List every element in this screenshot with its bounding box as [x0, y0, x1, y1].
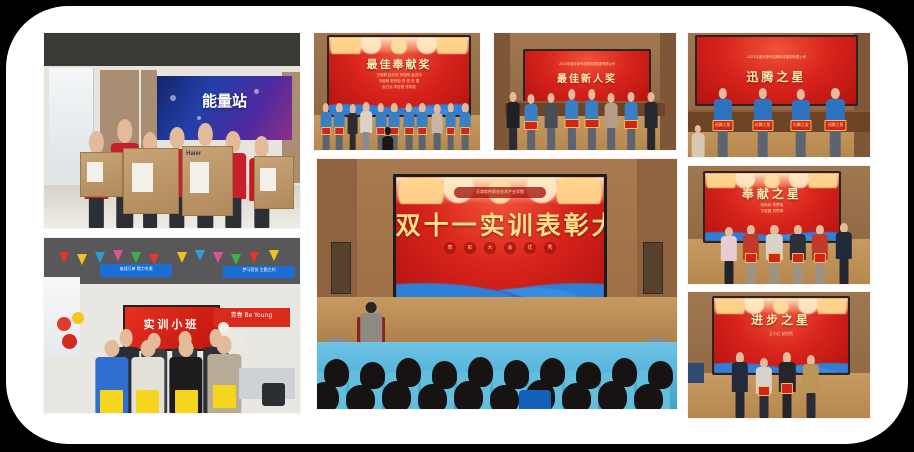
person	[432, 104, 443, 150]
person: 迅腾之星	[713, 88, 731, 157]
screen-badge: 秀	[544, 242, 556, 254]
legs	[527, 129, 535, 150]
bunting-flag	[113, 250, 123, 261]
banner-sparkle-3	[197, 116, 201, 120]
photo-xunteng-star[interactable]: 2023年度天津市迅腾科技集团有限公司 迅腾之星 迅腾之星	[687, 32, 871, 158]
screen-title: 进步之星	[714, 311, 849, 328]
head	[140, 340, 155, 358]
head	[608, 93, 615, 103]
yellow-certificate	[136, 390, 159, 413]
head	[385, 127, 391, 136]
screen-title: 迅腾之星	[697, 68, 855, 85]
person-seated	[692, 125, 705, 157]
office-chair	[262, 383, 285, 406]
slogan-band-right-text: 梦马竞技 主题之约	[223, 267, 295, 273]
torso	[507, 102, 520, 128]
torso	[545, 103, 558, 128]
award-placard: 迅腾之星	[790, 120, 811, 131]
head	[628, 92, 635, 103]
legs	[588, 127, 596, 150]
certificate	[781, 383, 793, 394]
person	[779, 352, 795, 418]
photo-award-boxes-scene: 能量站	[44, 33, 300, 228]
legs	[757, 128, 768, 157]
legs	[783, 392, 792, 418]
award-placard	[584, 119, 599, 128]
legs	[746, 260, 755, 284]
head	[797, 89, 805, 100]
balloon	[57, 317, 71, 331]
legs	[509, 128, 517, 150]
certificate	[446, 127, 456, 135]
collage-card: 能量站	[6, 6, 908, 444]
bunting-flag	[195, 250, 205, 261]
certificate	[814, 253, 826, 263]
person	[545, 93, 558, 150]
legs	[447, 133, 454, 150]
torso	[432, 113, 443, 134]
screen-title: 最佳新人奖	[525, 70, 649, 85]
slogan-band-right: 梦马竞技 主题之约	[223, 266, 295, 278]
legs	[794, 260, 803, 284]
head	[198, 123, 212, 146]
bunting-flag	[213, 252, 223, 263]
photo-award-boxes[interactable]: 能量站	[43, 32, 301, 229]
audience-blue-jacket	[519, 390, 551, 409]
photo-best-contribution-scene: 最佳奉献奖 王伟鹏 赵志伟 刘佳明 孟志伟 马晓雅 陈欣怡 李 悦 张 雪 赵方…	[314, 33, 480, 150]
legs	[759, 394, 768, 418]
torso	[605, 103, 618, 128]
photo-dedication-star[interactable]: 奉献之星 张雨欣 李梦瑶 王晓晨 刘思琪	[687, 165, 871, 285]
bunting-flag	[131, 252, 141, 263]
legs	[547, 128, 555, 150]
certificate	[321, 127, 331, 135]
screen-org-line: 2023年度天津市迅腾科技集团有限公司	[697, 54, 855, 59]
bunting-flag	[269, 250, 279, 261]
head	[104, 340, 119, 358]
bunting-flag	[249, 252, 259, 263]
bunting-flag	[59, 252, 69, 263]
head	[366, 302, 377, 313]
screen-badge: 优	[524, 242, 536, 254]
person	[360, 102, 372, 150]
person	[404, 103, 415, 150]
person	[625, 92, 638, 151]
wall-vent-right	[643, 242, 663, 294]
person	[766, 225, 782, 284]
legs	[419, 133, 426, 150]
certificate	[418, 127, 428, 135]
side-table	[688, 363, 704, 383]
torso	[382, 136, 394, 151]
balloon	[72, 312, 84, 324]
torso	[835, 232, 851, 260]
legs	[406, 133, 413, 150]
legs	[323, 133, 330, 150]
person: 迅腾之星	[754, 88, 772, 157]
head	[588, 89, 596, 100]
person	[755, 358, 771, 418]
box-brand-text: Haier	[186, 151, 201, 157]
bunting-flag	[77, 254, 87, 265]
bunting-flag	[177, 252, 187, 263]
screen-title: 奉献之星	[705, 185, 840, 202]
legs	[830, 128, 841, 157]
photo-dedication-star-scene: 奉献之星 张雨欣 李梦瑶 王晓晨 刘思琪	[688, 166, 870, 284]
legs	[462, 133, 469, 150]
screen-org-text: 天津软件职业技术产业学院	[454, 187, 546, 198]
head	[548, 93, 555, 103]
screen-badge: 彰	[464, 242, 476, 254]
wall-pillar-right	[660, 33, 676, 150]
box-label	[132, 163, 154, 192]
screen-badge: 大	[484, 242, 496, 254]
legs	[839, 259, 848, 284]
prize-box	[254, 156, 294, 209]
legs	[717, 128, 728, 157]
certificate	[792, 253, 804, 263]
screen-title: 双十一实训表彰大会	[396, 206, 605, 242]
photo-newcomer-award-scene: 2023年度天津市迅腾科技集团有限公司 最佳新人奖	[494, 33, 676, 150]
certificate	[335, 127, 345, 135]
person	[835, 223, 851, 284]
award-placard: 迅腾之星	[712, 120, 733, 131]
head	[179, 340, 194, 358]
screen-title: 最佳奉献奖	[329, 56, 468, 72]
placard-text: 迅腾之星	[791, 122, 810, 128]
award-placard: 迅腾之星	[825, 120, 846, 131]
certificate	[461, 127, 471, 135]
head	[695, 125, 701, 133]
person	[605, 93, 618, 150]
screen-subline-3: 赵方远 李佳慧 张明浩	[329, 85, 468, 90]
screenshot-root: 能量站	[0, 0, 914, 452]
head	[89, 131, 103, 154]
certificate	[768, 253, 780, 263]
screen-blue-mountains	[396, 263, 605, 300]
award-placard	[624, 120, 638, 129]
torso	[803, 364, 819, 392]
photo-newcomer-award[interactable]: 2023年度天津市迅腾科技集团有限公司 最佳新人奖	[493, 32, 677, 151]
person	[321, 103, 332, 150]
legs	[770, 260, 779, 284]
person	[460, 103, 471, 150]
photo-main-auditorium-scene: 天津软件职业技术产业学院 双十一实训表彰大会 表 彰 大 会 优 秀	[317, 159, 677, 409]
person: 迅腾之星	[792, 89, 810, 157]
head	[718, 88, 726, 99]
legs	[336, 133, 343, 150]
person	[507, 92, 520, 151]
torso	[721, 236, 737, 261]
screen-subline-1: 王小红 赵欣然	[714, 331, 849, 337]
photo-collage: 能量站	[6, 6, 908, 444]
bunting-flag	[231, 254, 241, 265]
prize-box-haier: Haier	[182, 146, 233, 216]
head	[758, 88, 766, 99]
person	[334, 103, 345, 150]
photo-best-contribution[interactable]: 最佳奉献奖 王伟鹏 赵志伟 刘佳明 孟志伟 马晓雅 陈欣怡 李 悦 张 雪 赵方…	[313, 32, 481, 151]
screen-subline-2: 马晓雅 陈欣怡 李 悦 张 雪	[329, 79, 468, 84]
certificate	[404, 127, 414, 135]
ceiling	[44, 33, 300, 66]
person: 迅腾之星	[826, 88, 844, 157]
right-red-banner-text: 青春 Be Young	[213, 310, 290, 319]
torso	[645, 102, 658, 128]
head	[510, 92, 517, 103]
award-placard: 迅腾之星	[752, 120, 773, 131]
yellow-certificate	[213, 385, 236, 408]
head	[528, 94, 535, 104]
photo-progress-star-scene: 进步之星 王小红 赵欣然	[688, 292, 870, 418]
head	[831, 88, 839, 99]
person	[812, 225, 828, 284]
box-label	[87, 162, 103, 181]
screen-org-badge: 天津软件职业技术产业学院	[454, 187, 546, 198]
photo-progress-star[interactable]: 进步之星 王小红 赵欣然	[687, 291, 871, 419]
prize-box	[80, 152, 123, 197]
photo-xunteng-star-scene: 2023年度天津市迅腾科技集团有限公司 迅腾之星 迅腾之星	[688, 33, 870, 157]
audience-head	[382, 381, 411, 409]
screen-org-line: 2023年度天津市迅腾科技集团有限公司	[525, 61, 649, 66]
photo-main-auditorium[interactable]: 天津软件职业技术产业学院 双十一实训表彰大会 表 彰 大 会 优 秀	[316, 158, 678, 410]
screen-subline-1: 王伟鹏 赵志伟 刘佳明 孟志伟	[329, 73, 468, 78]
placard-text: 迅腾之星	[713, 122, 732, 128]
certificate	[757, 386, 769, 396]
legs	[349, 133, 356, 150]
award-placard	[564, 119, 579, 128]
placard-text: 迅腾之星	[826, 122, 845, 128]
screen-subline-1: 张雨欣 李梦瑶	[705, 203, 840, 208]
photo-classroom-celebration[interactable]: 奋战万单 戮力冬奥 梦马竞技 主题之约 实训小班 青春 Be Young	[43, 237, 301, 414]
box-label	[260, 168, 275, 191]
legs	[735, 392, 744, 418]
slogan-band-left-text: 奋战万单 戮力冬奥	[100, 266, 172, 272]
person	[565, 89, 579, 150]
yellow-certificate	[100, 390, 123, 413]
photo-classroom-scene: 奋战万单 戮力冬奥 梦马竞技 主题之约 实训小班 青春 Be Young	[44, 238, 300, 413]
slogan-band-left: 奋战万单 戮力冬奥	[100, 264, 172, 276]
certificate	[745, 253, 757, 263]
head	[117, 119, 132, 143]
placard-text: 迅腾之星	[753, 122, 772, 128]
person	[445, 103, 456, 150]
person	[721, 227, 737, 284]
audience-head	[490, 385, 519, 409]
screen-badge: 表	[444, 242, 456, 254]
prize-box	[123, 148, 179, 214]
audience-head	[598, 381, 627, 409]
audience	[317, 342, 677, 410]
screen-subline-2: 王晓晨 刘思琪	[705, 209, 840, 214]
person	[732, 352, 748, 418]
torso	[360, 111, 372, 133]
screen-badge: 会	[504, 242, 516, 254]
person	[417, 103, 428, 150]
torso	[347, 113, 358, 134]
legs	[628, 128, 636, 150]
person	[347, 104, 358, 150]
legs	[89, 198, 103, 228]
person	[585, 89, 599, 150]
yellow-certificate	[175, 390, 198, 413]
head	[217, 336, 232, 354]
head	[568, 89, 576, 100]
torso	[732, 362, 748, 391]
torso	[360, 313, 382, 342]
head	[648, 92, 655, 103]
legs	[724, 261, 733, 284]
led-screen: 天津软件职业技术产业学院 双十一实训表彰大会 表 彰 大 会 优 秀	[393, 174, 608, 303]
wall-vent-left	[331, 242, 351, 294]
screen-badge-row: 表 彰 大 会 优 秀	[396, 242, 605, 254]
legs	[434, 133, 441, 150]
person	[645, 92, 658, 151]
banner-title: 能量站	[157, 90, 293, 111]
legs	[608, 128, 616, 150]
screen-gold-pattern	[329, 37, 468, 54]
bunting-flag	[149, 254, 159, 265]
legs	[815, 260, 824, 284]
person	[803, 355, 819, 418]
legs	[648, 128, 656, 150]
torso	[692, 133, 705, 157]
bunting-flag	[95, 252, 105, 263]
award-placard	[524, 121, 538, 130]
audience-head	[454, 381, 483, 409]
person	[525, 94, 538, 150]
audience-head	[634, 384, 663, 409]
person	[790, 225, 806, 284]
person	[743, 225, 759, 284]
legs	[568, 127, 576, 150]
speaker	[360, 302, 382, 342]
box-label	[190, 162, 209, 193]
audience-head	[562, 383, 591, 409]
audience-head	[346, 385, 375, 409]
legs	[796, 128, 807, 157]
person-foreground	[382, 127, 394, 150]
legs	[363, 132, 370, 150]
legs	[806, 393, 815, 418]
audience-head	[418, 384, 447, 409]
